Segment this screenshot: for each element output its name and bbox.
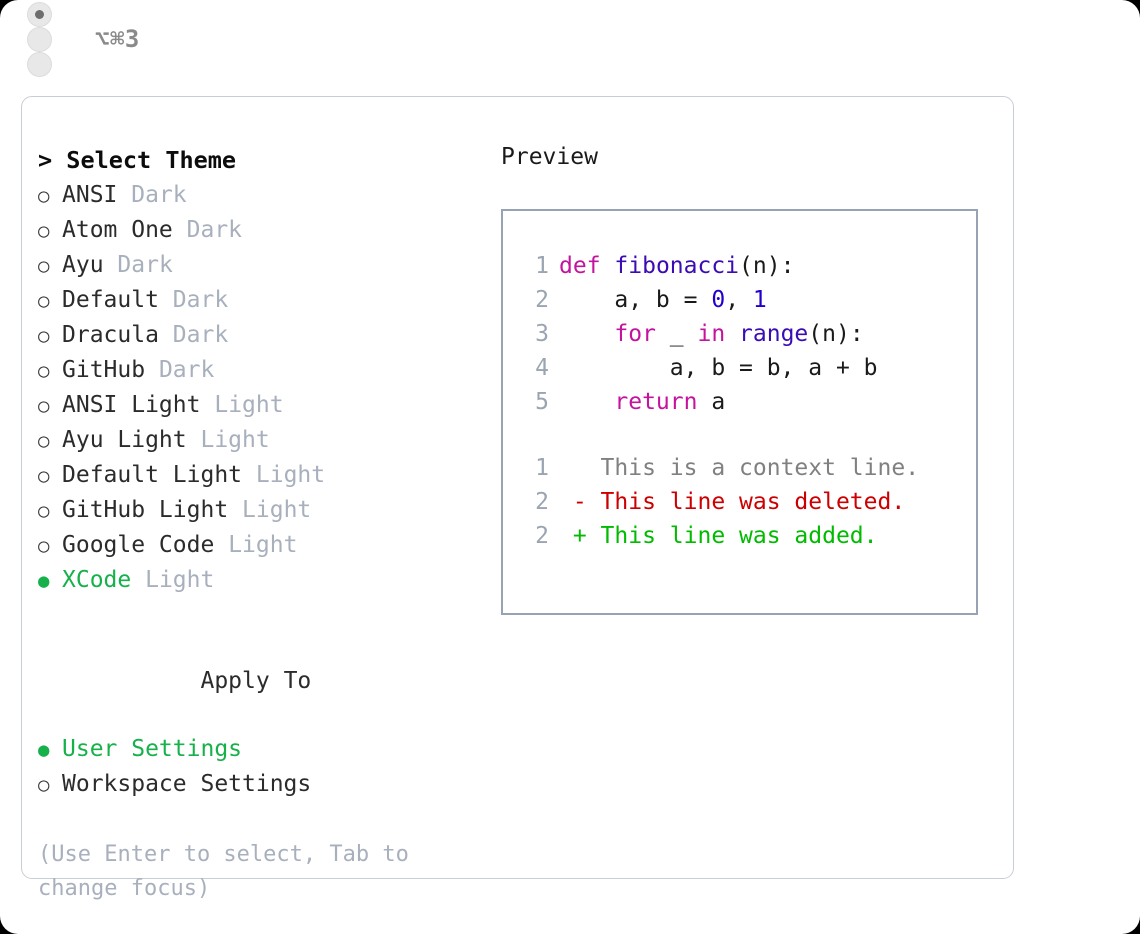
theme-name: Google Code <box>62 532 214 558</box>
code-line: 2 a, b = 0, 1 <box>523 283 919 317</box>
preview-box: 1def fibonacci(n):2 a, b = 0, 13 for _ i… <box>501 209 978 615</box>
theme-name: Ayu Light <box>62 427 187 453</box>
theme-variant-badge: Light <box>145 567 214 593</box>
theme-list-item[interactable]: ANSI Light Light <box>38 388 478 423</box>
theme-list-item[interactable]: ANSI Dark <box>38 178 478 213</box>
line-number: 1 <box>523 249 549 283</box>
code-line: 3 for _ in range(n): <box>523 317 919 351</box>
radio-unselected-icon <box>38 493 62 528</box>
radio-unselected-icon <box>38 178 62 213</box>
code-line: 1def fibonacci(n): <box>523 249 919 283</box>
theme-name: GitHub <box>62 357 145 383</box>
diff-marker: - <box>559 489 587 515</box>
apply-to-label-text: Apply To <box>200 668 311 694</box>
theme-list-item[interactable]: Atom One Dark <box>38 213 478 248</box>
theme-name: GitHub Light <box>62 497 228 523</box>
code-token: _ <box>656 321 698 347</box>
theme-list-item[interactable]: XCode Light <box>38 563 478 598</box>
theme-name: Default Light <box>62 462 242 488</box>
theme-variant-badge: Dark <box>187 217 242 243</box>
code-token: fibonacci <box>614 253 739 279</box>
code-token: for <box>614 321 656 347</box>
code-token: return <box>614 389 697 415</box>
radio-selected-icon <box>38 563 62 598</box>
diff-line: 1 This is a context line. <box>523 451 919 485</box>
traffic-dot-3[interactable] <box>27 52 52 77</box>
diff-line: 2 - This line was deleted. <box>523 485 919 519</box>
theme-variant-badge: Light <box>214 392 283 418</box>
radio-unselected-icon <box>38 423 62 458</box>
diff-text: This line was deleted. <box>587 489 906 515</box>
theme-variant-badge: Dark <box>173 287 228 313</box>
apply-to-option[interactable]: Workspace Settings <box>38 767 478 802</box>
theme-variant-badge: Light <box>200 427 269 453</box>
radio-unselected-icon <box>38 283 62 318</box>
theme-list-item[interactable]: Dracula Dark <box>38 318 478 353</box>
theme-selection-column: > Select Theme ANSI DarkAtom One DarkAyu… <box>38 142 478 906</box>
preview-column: Preview 1def fibonacci(n):2 a, b = 0, 13… <box>501 142 991 615</box>
code-token: 1 <box>753 287 767 313</box>
code-token: (n): <box>739 253 794 279</box>
radio-selected-icon <box>38 732 62 767</box>
theme-list-item[interactable]: Ayu Dark <box>38 248 478 283</box>
code-token: 0 <box>711 287 725 313</box>
theme-list-item[interactable]: Default Light Light <box>38 458 478 493</box>
spacer-bullet <box>176 664 200 698</box>
code-preview: 1def fibonacci(n):2 a, b = 0, 13 for _ i… <box>523 249 919 553</box>
keyboard-hint-text: (Use Enter to select, Tab to change focu… <box>38 838 448 906</box>
theme-name: Default <box>62 287 159 313</box>
apply-to-option-label: User Settings <box>62 736 242 762</box>
apply-to-option-label: Workspace Settings <box>62 771 311 797</box>
radio-unselected-icon <box>38 213 62 248</box>
code-token: range <box>739 321 808 347</box>
window-controls <box>27 2 67 77</box>
theme-variant-badge: Light <box>228 532 297 558</box>
theme-list-header: > Select Theme <box>38 142 478 178</box>
theme-name: ANSI <box>62 182 117 208</box>
theme-list-item[interactable]: Ayu Light Light <box>38 423 478 458</box>
code-token: a <box>697 389 725 415</box>
theme-name: Dracula <box>62 322 159 348</box>
theme-variant-badge: Dark <box>131 182 186 208</box>
code-diff-separator <box>523 419 919 451</box>
apply-to-label: Apply To <box>38 630 478 732</box>
line-number: 4 <box>523 351 549 385</box>
traffic-dot-indicator <box>35 10 44 19</box>
radio-unselected-icon <box>38 458 62 493</box>
code-token: a, b = b, a + b <box>559 355 878 381</box>
traffic-dot-2[interactable] <box>27 27 52 52</box>
traffic-dot-active[interactable] <box>27 2 52 27</box>
radio-unselected-icon <box>38 767 62 802</box>
theme-list-item[interactable]: GitHub Light Light <box>38 493 478 528</box>
preview-title: Preview <box>501 142 991 172</box>
diff-line: 2 + This line was added. <box>523 519 919 553</box>
diff-text: This is a context line. <box>587 455 919 481</box>
line-number: 2 <box>523 485 549 519</box>
code-line: 5 return a <box>523 385 919 419</box>
theme-list-item[interactable]: Google Code Light <box>38 528 478 563</box>
main-panel: > Select Theme ANSI DarkAtom One DarkAyu… <box>21 96 1014 879</box>
radio-unselected-icon <box>38 248 62 283</box>
theme-variant-badge: Dark <box>173 322 228 348</box>
apply-to-option[interactable]: User Settings <box>38 732 478 767</box>
keyboard-shortcut-label: ⌥⌘3 <box>95 25 140 53</box>
code-line: 4 a, b = b, a + b <box>523 351 919 385</box>
line-number: 2 <box>523 283 549 317</box>
apply-to-section: Apply To User SettingsWorkspace Settings <box>38 630 478 802</box>
line-number: 3 <box>523 317 549 351</box>
theme-list[interactable]: ANSI DarkAtom One DarkAyu DarkDefault Da… <box>38 178 478 598</box>
theme-variant-badge: Light <box>256 462 325 488</box>
theme-list-item[interactable]: Default Dark <box>38 283 478 318</box>
theme-name: Ayu <box>62 252 104 278</box>
line-number: 1 <box>523 451 549 485</box>
code-token <box>601 253 615 279</box>
radio-unselected-icon <box>38 353 62 388</box>
theme-name: ANSI Light <box>62 392 200 418</box>
theme-variant-badge: Light <box>242 497 311 523</box>
code-token: , <box>725 287 753 313</box>
code-token: a, b = <box>559 287 711 313</box>
theme-name: Atom One <box>62 217 173 243</box>
theme-name: XCode <box>62 567 131 593</box>
diff-text: This line was added. <box>587 523 878 549</box>
diff-marker <box>559 455 587 481</box>
code-token <box>559 321 614 347</box>
radio-unselected-icon <box>38 528 62 563</box>
line-number: 5 <box>523 385 549 419</box>
code-token: in <box>697 321 725 347</box>
theme-variant-badge: Dark <box>117 252 172 278</box>
code-token: def <box>559 253 601 279</box>
apply-to-options[interactable]: User SettingsWorkspace Settings <box>38 732 478 802</box>
title-bar: ⌥⌘3 <box>0 0 1140 78</box>
code-token: (n): <box>808 321 863 347</box>
theme-variant-badge: Dark <box>159 357 214 383</box>
app-window: ⌥⌘3 > Select Theme ANSI DarkAtom One Dar… <box>0 0 1140 934</box>
radio-unselected-icon <box>38 318 62 353</box>
line-number: 2 <box>523 519 549 553</box>
theme-list-item[interactable]: GitHub Dark <box>38 353 478 388</box>
code-token <box>559 389 614 415</box>
radio-unselected-icon <box>38 388 62 423</box>
code-token <box>725 321 739 347</box>
diff-marker: + <box>559 523 587 549</box>
